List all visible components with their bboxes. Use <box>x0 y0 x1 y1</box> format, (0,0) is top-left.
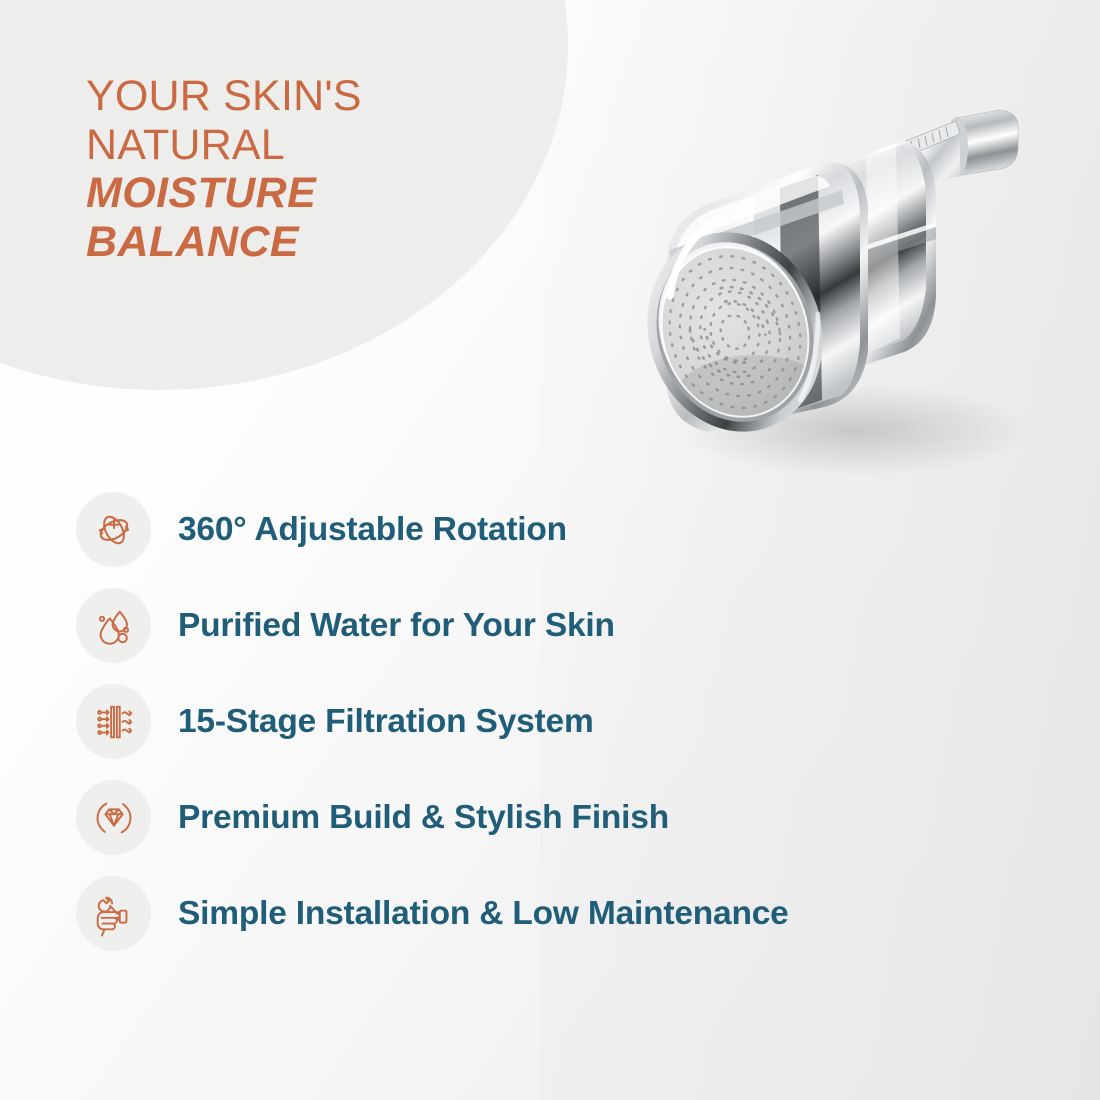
rotation-360-icon <box>76 492 151 567</box>
headline-line-1: YOUR SKIN'S <box>86 72 526 121</box>
water-droplet-icon <box>76 588 151 663</box>
product-image <box>604 100 1044 480</box>
feature-label: 15-Stage Filtration System <box>178 703 594 741</box>
feature-row: Simple Installation & Low Maintenance <box>76 876 1036 951</box>
feature-row: Purified Water for Your Skin <box>76 588 1036 663</box>
headline-line-2: NATURAL <box>86 121 526 170</box>
headline-line-3: MOISTURE <box>86 169 526 218</box>
feature-label: 360° Adjustable Rotation <box>178 511 567 549</box>
feature-label: Premium Build & Stylish Finish <box>178 799 669 837</box>
filtration-icon <box>76 684 151 759</box>
diamond-quality-icon <box>76 780 151 855</box>
infographic-canvas: YOUR SKIN'S NATURAL MOISTURE BALANCE <box>0 0 1100 1100</box>
feature-row: Premium Build & Stylish Finish <box>76 780 1036 855</box>
feature-label: Simple Installation & Low Maintenance <box>178 895 789 933</box>
headline-line-4: BALANCE <box>86 218 526 267</box>
feature-row: 15-Stage Filtration System <box>76 684 1036 759</box>
feature-row: 360° Adjustable Rotation <box>76 492 1036 567</box>
feature-label: Purified Water for Your Skin <box>178 607 615 645</box>
showerhead-illustration <box>604 100 1044 480</box>
headline: YOUR SKIN'S NATURAL MOISTURE BALANCE <box>86 72 526 266</box>
feature-list: 360° Adjustable Rotation Purified Water … <box>76 492 1036 951</box>
hand-wrench-icon <box>76 876 151 951</box>
